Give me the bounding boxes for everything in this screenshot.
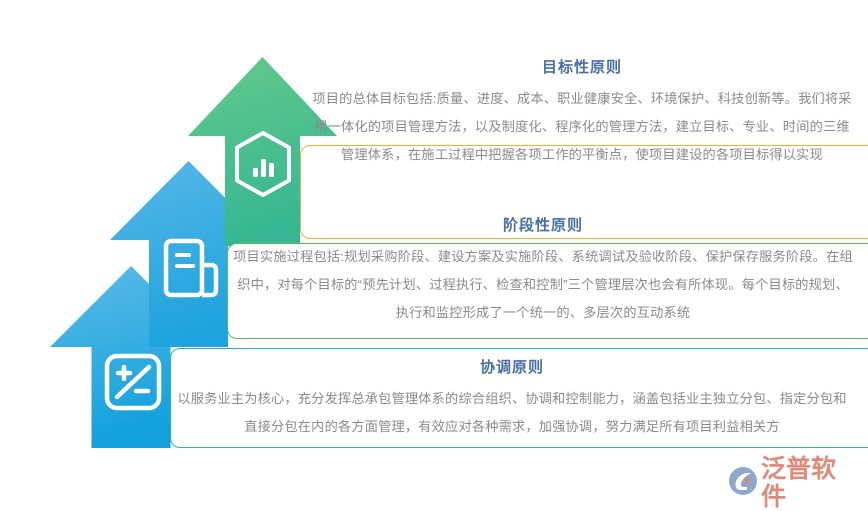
brand-name: 泛普软件 [761, 455, 860, 511]
block-coordination: 协调原则 以服务业主为核心，充分发挥总承包管理体系的综合组织、协调和控制能力，涵… [177, 358, 847, 441]
infographic-canvas: 目标性原则 项目的总体目标包括:质量、进度、成本、职业健康安全、环境保护、科技创… [0, 0, 868, 511]
block-stage-title: 阶段性原则 [232, 216, 854, 236]
plus-minus-icon [103, 352, 163, 412]
block-goal-body: 项目的总体目标包括:质量、进度、成本、职业健康安全、环境保护、科技创新等。我们将… [308, 85, 856, 169]
block-goal-title: 目标性原则 [308, 58, 856, 78]
block-coordination-body: 以服务业主为核心，充分发挥总承包管理体系的综合组织、协调和控制能力，涵盖包括业主… [177, 385, 847, 441]
block-coordination-title: 协调原则 [177, 358, 847, 378]
block-stage: 阶段性原则 项目实施过程包括:规划采购阶段、建设方案及实施阶段、系统调试及验收阶… [232, 216, 854, 327]
block-goal: 目标性原则 项目的总体目标包括:质量、进度、成本、职业健康安全、环境保护、科技创… [308, 58, 856, 169]
hexagon-bar-chart-icon [232, 130, 294, 198]
document-icon [163, 238, 219, 302]
brand-logo: 泛普软件 www.fanpusoft.com [728, 455, 860, 503]
block-stage-body: 项目实施过程包括:规划采购阶段、建设方案及实施阶段、系统调试及验收阶段、保护保存… [232, 243, 854, 327]
fanpu-logo-icon [728, 466, 758, 501]
